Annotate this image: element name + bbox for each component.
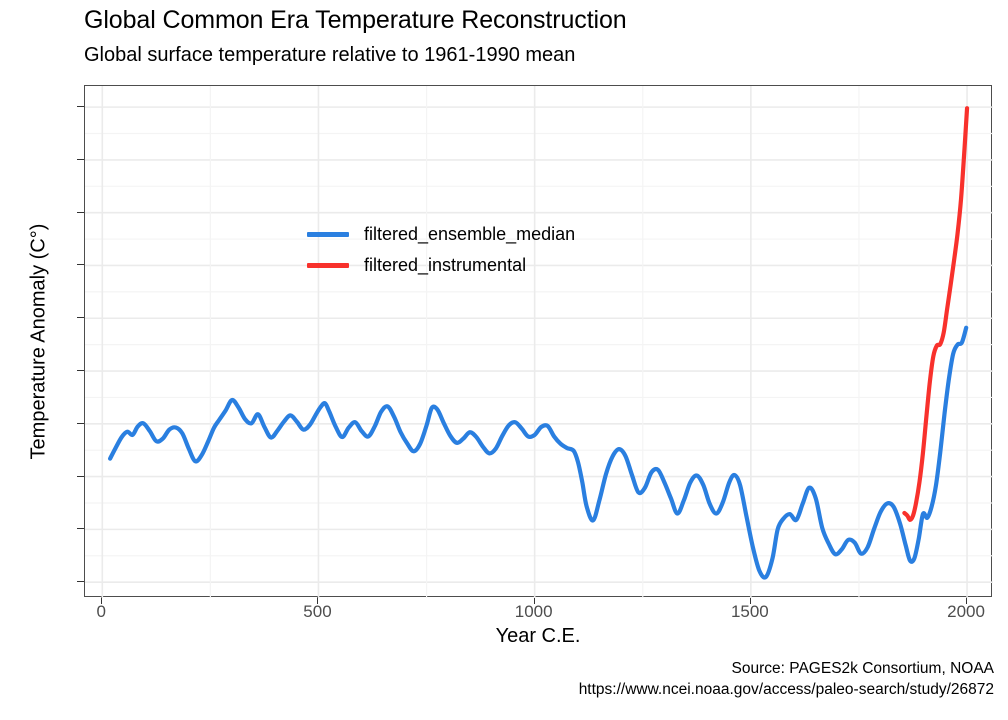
legend-label-instrumental: filtered_instrumental <box>364 255 526 276</box>
source-caption: Source: PAGES2k Consortium, NOAA https:/… <box>579 658 994 700</box>
legend: filtered_ensemble_median filtered_instru… <box>307 219 575 281</box>
x-axis-title: Year C.E. <box>84 625 992 648</box>
legend-label-ensemble-median: filtered_ensemble_median <box>364 224 575 245</box>
y-tick-mark <box>77 264 84 265</box>
y-tick-mark <box>77 423 84 424</box>
page-subtitle: Global surface temperature relative to 1… <box>84 44 575 67</box>
plot-panel: filtered_ensemble_median filtered_instru… <box>84 85 992 597</box>
x-tick-label: 500 <box>277 602 357 622</box>
series-path-1 <box>904 108 967 520</box>
legend-swatch-instrumental <box>307 263 349 268</box>
x-tick-label: 1500 <box>710 602 790 622</box>
y-tick-mark <box>77 106 84 107</box>
series-lines <box>85 86 993 598</box>
y-tick-mark <box>77 212 84 213</box>
x-tick-mark <box>534 597 535 604</box>
legend-swatch-ensemble-median <box>307 232 349 237</box>
x-tick-mark <box>317 597 318 604</box>
legend-item-instrumental[interactable]: filtered_instrumental <box>307 250 575 281</box>
y-tick-mark <box>77 528 84 529</box>
x-tick-mark <box>101 597 102 604</box>
caption-line-source: Source: PAGES2k Consortium, NOAA <box>579 658 994 679</box>
page-title: Global Common Era Temperature Reconstruc… <box>84 6 627 35</box>
x-tick-mark <box>966 597 967 604</box>
x-tick-mark <box>750 597 751 604</box>
x-tick-label: 0 <box>61 602 141 622</box>
caption-line-url: https://www.ncei.noaa.gov/access/paleo-s… <box>579 679 994 700</box>
legend-item-ensemble-median[interactable]: filtered_ensemble_median <box>307 219 575 250</box>
y-axis-title: Temperature Anomaly (C°) <box>28 142 51 542</box>
x-tick-label: 2000 <box>926 602 1006 622</box>
y-tick-mark <box>77 159 84 160</box>
chart-page: Global Common Era Temperature Reconstruc… <box>0 0 1008 720</box>
series-path-0 <box>110 328 966 578</box>
y-tick-mark <box>77 476 84 477</box>
x-tick-label: 1000 <box>494 602 574 622</box>
y-tick-mark <box>77 370 84 371</box>
y-tick-mark <box>77 581 84 582</box>
y-tick-mark <box>77 317 84 318</box>
